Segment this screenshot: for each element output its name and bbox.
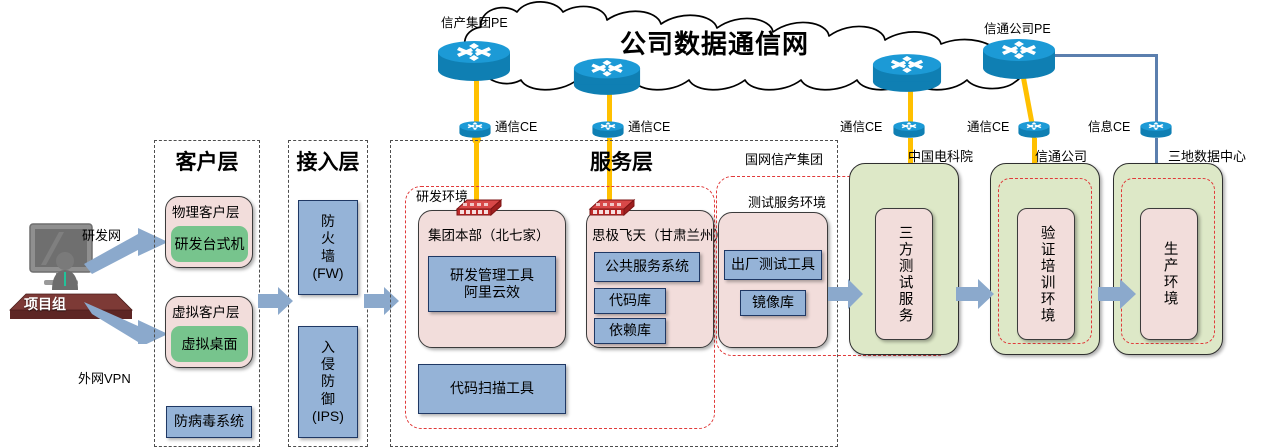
third-party-test-service-box[interactable]: 三方测试服务 <box>875 208 933 340</box>
production-env-box[interactable]: 生产环境 <box>1140 208 1198 340</box>
virtual-desktop-item[interactable]: 虚拟桌面 <box>171 326 248 362</box>
firewall-box[interactable]: 防 火 墙 (FW) <box>298 200 358 295</box>
cloud-label: 公司数据通信网 <box>620 24 809 61</box>
ips-line-4: 御 <box>321 391 335 408</box>
public-service-system-box[interactable]: 公共服务系统 <box>594 252 700 282</box>
pe-router-mid[interactable] <box>573 57 641 96</box>
antivirus-system-box[interactable]: 防病毒系统 <box>166 406 252 438</box>
arrow-client-to-access <box>258 286 294 316</box>
arrow-verify-to-production <box>1098 278 1138 310</box>
ips-line-5: (IPS) <box>312 408 344 425</box>
verify-training-env-box[interactable]: 验证培训环境 <box>1017 208 1075 340</box>
firewall-brick-icon <box>455 195 503 217</box>
ce-router-3[interactable] <box>893 120 925 140</box>
rd-tool-line-2: 阿里云效 <box>464 284 520 301</box>
ips-line-3: 防 <box>321 373 335 390</box>
link-pe4-infoce-h <box>1043 54 1158 57</box>
pe-router-xinchan[interactable] <box>437 40 511 82</box>
arrow-test-to-verify <box>956 278 996 310</box>
connection-label-vpn: 外网VPN <box>78 368 131 387</box>
siji-feitian-label: 思极飞天（甘肃兰州） <box>592 224 727 244</box>
pe-router-xinchan-label: 信产集团PE <box>441 12 508 31</box>
third-party-test-service-label: 三方测试服务 <box>896 225 911 324</box>
rd-tool-line-1: 研发管理工具 <box>450 267 534 284</box>
ce-router-4-label: 通信CE <box>967 116 1009 135</box>
access-layer-title: 接入层 <box>288 146 368 176</box>
image-repository-box[interactable]: 镜像库 <box>740 290 806 316</box>
code-scan-tool-box[interactable]: 代码扫描工具 <box>418 364 566 414</box>
ips-box[interactable]: 入 侵 防 御 (IPS) <box>298 326 358 438</box>
firewall-line-1: 防 <box>321 213 335 230</box>
service-layer-title: 服务层 <box>590 146 653 176</box>
service-layer-owner-label: 国网信产集团 <box>745 149 823 168</box>
pe-router-right-mid[interactable] <box>872 53 942 93</box>
ce-router-4[interactable] <box>1018 120 1050 140</box>
pe-router-xintong[interactable] <box>982 38 1056 80</box>
ce-router-2[interactable] <box>592 120 624 140</box>
client-layer-column <box>154 140 260 447</box>
dependency-repository-box[interactable]: 依赖库 <box>594 318 666 344</box>
physical-client-label: 物理客户层 <box>172 201 240 221</box>
factory-test-tool-box[interactable]: 出厂测试工具 <box>724 250 822 280</box>
firewall-line-2: 火 <box>321 230 335 247</box>
link-pe4-infoce-v <box>1155 54 1158 130</box>
ce-router-3-label: 通信CE <box>840 116 882 135</box>
firewall-line-4: (FW) <box>312 265 343 282</box>
ce-router-1[interactable] <box>459 120 491 140</box>
factory-test-group-box[interactable] <box>718 212 828 348</box>
connection-label-rd-net: 研发网 <box>82 225 121 244</box>
verify-training-env-label: 验证培训环境 <box>1038 225 1053 324</box>
ips-line-2: 侵 <box>321 356 335 373</box>
ce-router-info[interactable] <box>1140 120 1172 140</box>
hq-group-label: 集团本部（北七家） <box>428 224 550 244</box>
firewall-line-3: 墙 <box>321 248 335 265</box>
client-layer-title: 客户层 <box>154 146 260 176</box>
code-repository-box[interactable]: 代码库 <box>594 288 666 314</box>
ips-line-1: 入 <box>321 339 335 356</box>
ce-router-1-label: 通信CE <box>495 116 537 135</box>
ce-router-info-label: 信息CE <box>1088 116 1130 135</box>
production-env-label: 生产环境 <box>1161 241 1176 307</box>
arrow-service-to-test <box>828 278 864 310</box>
virtual-client-label: 虚拟客户层 <box>172 301 240 321</box>
pe-router-xintong-label: 信通公司PE <box>984 18 1051 37</box>
test-service-environment-label: 测试服务环境 <box>748 192 826 211</box>
ce-router-2-label: 通信CE <box>628 116 670 135</box>
dev-desktop-item[interactable]: 研发台式机 <box>171 226 248 262</box>
project-group-label: 项目组 <box>24 294 66 314</box>
firewall-brick-icon <box>588 195 636 217</box>
rd-management-tool-box[interactable]: 研发管理工具 阿里云效 <box>428 256 556 312</box>
